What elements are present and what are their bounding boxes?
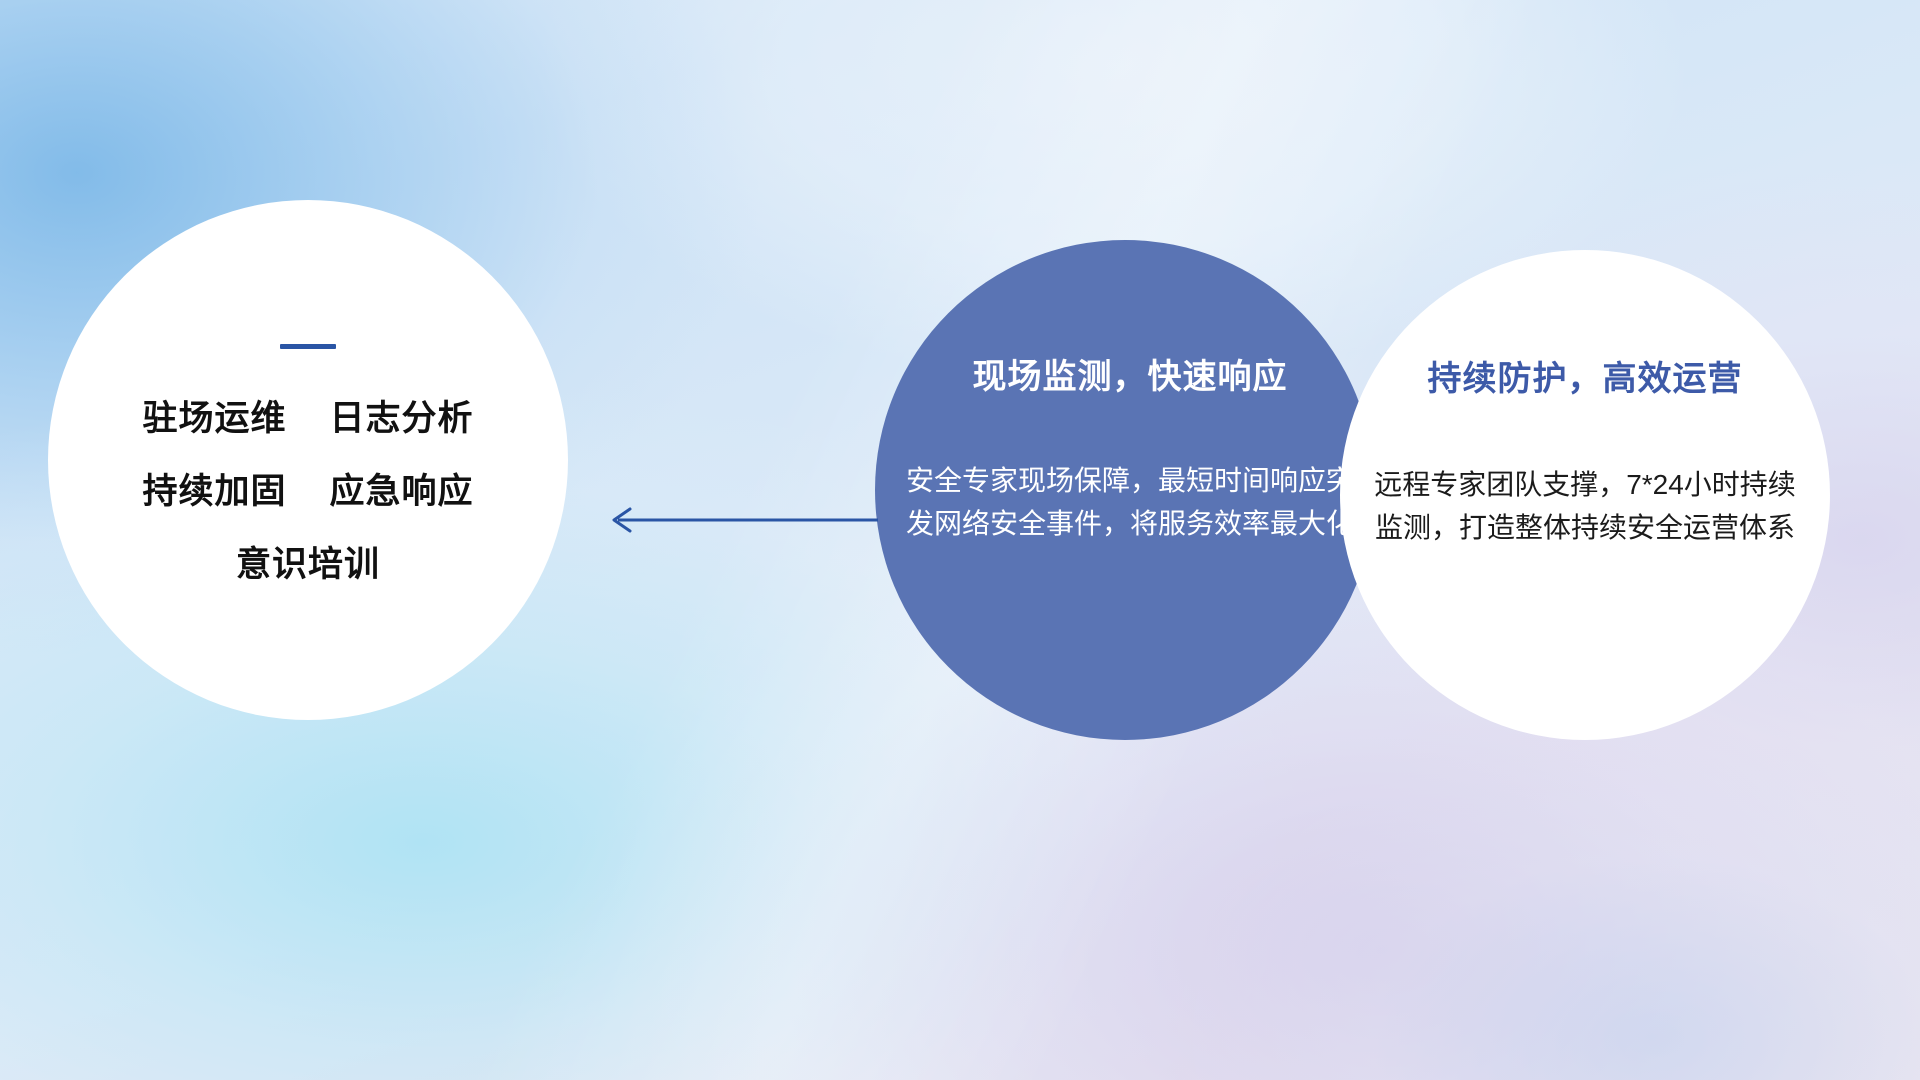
onsite-monitoring-title: 现场监测，快速响应 (901, 358, 1359, 397)
service-capability-content: 驻场运维 日志分析 持续加固 应急响应 意识培训 (48, 344, 568, 582)
service-capability-circle[interactable]: 驻场运维 日志分析 持续加固 应急响应 意识培训 (48, 200, 568, 720)
leftward-flow-arrow (600, 498, 880, 542)
onsite-monitoring-content: 现场监测，快速响应 安全专家现场保障，最短时间响应突发网络安全事件，将服务效率最… (901, 358, 1359, 546)
divider-rule (280, 344, 336, 349)
continuous-protection-title: 持续防护，高效运营 (1364, 360, 1806, 399)
continuous-protection-content: 持续防护，高效运营 远程专家团队支撑，7*24小时持续监测，打造整体持续安全运营… (1364, 360, 1806, 550)
service-capability-line-2: 持续加固 应急响应 (48, 474, 568, 509)
service-capability-line-1: 驻场运维 日志分析 (48, 401, 568, 436)
continuous-protection-body: 远程专家团队支撑，7*24小时持续监测，打造整体持续安全运营体系 (1364, 463, 1806, 550)
continuous-protection-circle[interactable]: 持续防护，高效运营 远程专家团队支撑，7*24小时持续监测，打造整体持续安全运营… (1340, 250, 1830, 740)
onsite-monitoring-circle[interactable]: 现场监测，快速响应 安全专家现场保障，最短时间响应突发网络安全事件，将服务效率最… (875, 240, 1375, 740)
service-capability-line-3: 意识培训 (48, 547, 568, 582)
slide-canvas: 现场监测，快速响应 安全专家现场保障，最短时间响应突发网络安全事件，将服务效率最… (0, 0, 1920, 1080)
onsite-monitoring-body: 安全专家现场保障，最短时间响应突发网络安全事件，将服务效率最大化 (901, 459, 1359, 546)
